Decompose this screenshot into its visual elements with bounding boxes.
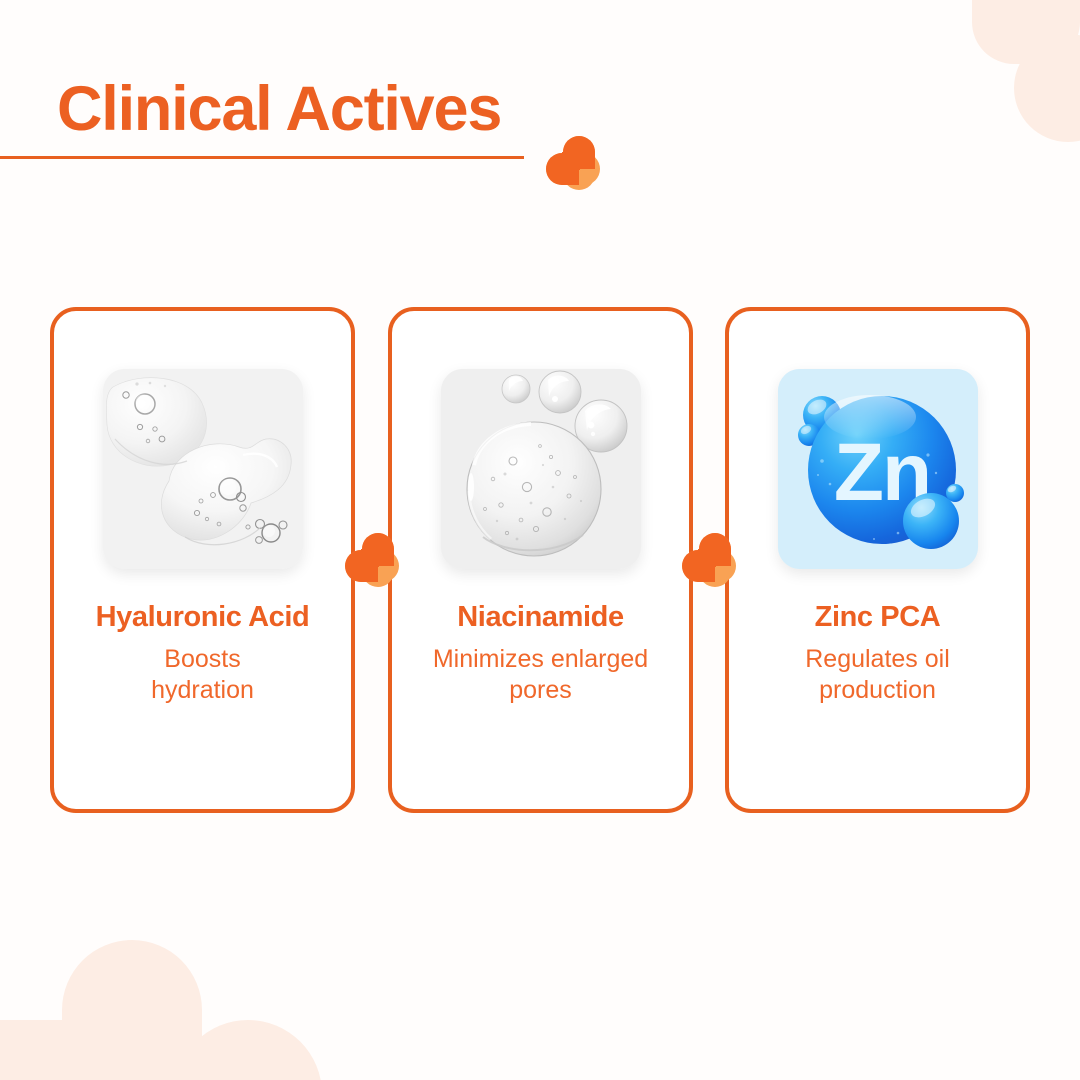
card-image-hyaluronic-acid xyxy=(103,369,303,569)
card-description-niacinamide: Minimizes enlarged pores xyxy=(400,644,681,705)
ingredient-card-hyaluronic-acid[interactable]: Hyaluronic Acid Boosts hydration xyxy=(50,307,355,813)
card-image-niacinamide xyxy=(441,369,641,569)
plus-core-fill xyxy=(698,549,716,567)
ingredient-card-zinc-pca[interactable]: Zn Zinc PCA Regulates oil production xyxy=(725,307,1030,813)
gel-droplet-illustration xyxy=(441,369,641,569)
card-description-hyaluronic-acid: Boosts hydration xyxy=(62,644,343,705)
cards-row: Hyaluronic Acid Boosts hydration xyxy=(0,0,1080,1080)
card-title-zinc-pca: Zinc PCA xyxy=(729,603,1026,632)
zinc-sphere-illustration: Zn xyxy=(778,369,978,569)
gel-serum-illustration xyxy=(103,369,303,569)
plus-cross-icon-connector-2 xyxy=(682,533,736,587)
plus-cross-icon-connector-1 xyxy=(345,533,399,587)
plus-core xyxy=(345,533,399,587)
card-description-zinc-pca: Regulates oil production xyxy=(737,644,1018,705)
plus-core xyxy=(682,533,736,587)
plus-core-fill xyxy=(361,549,379,567)
infographic-canvas: Clinical Actives xyxy=(0,0,1080,1080)
card-image-zinc-pca: Zn xyxy=(778,369,978,569)
ingredient-card-niacinamide[interactable]: Niacinamide Minimizes enlarged pores xyxy=(388,307,693,813)
card-title-niacinamide: Niacinamide xyxy=(392,603,689,632)
card-title-hyaluronic-acid: Hyaluronic Acid xyxy=(54,603,351,632)
